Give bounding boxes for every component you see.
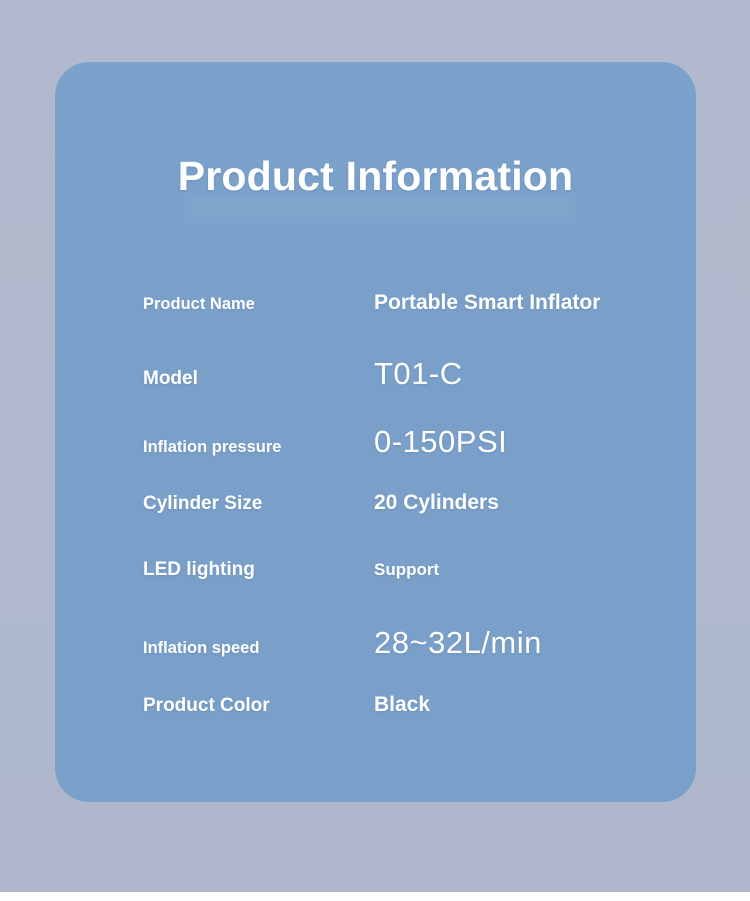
spec-value-inflation-pressure: 0-150PSI bbox=[374, 424, 507, 460]
product-info-page: Product Information Product Name Portabl… bbox=[0, 0, 750, 901]
spec-label-led-lighting: LED lighting bbox=[143, 559, 374, 581]
spec-row-inflation-pressure: Inflation pressure 0-150PSI bbox=[143, 424, 683, 460]
specification-list: Product Name Portable Smart Inflator Mod… bbox=[55, 62, 696, 802]
spec-row-cylinder-size: Cylinder Size 20 Cylinders bbox=[143, 491, 683, 515]
bottom-divider-strip bbox=[0, 892, 750, 901]
spec-row-model: Model T01-C bbox=[143, 356, 683, 392]
spec-label-product-name: Product Name bbox=[143, 295, 374, 314]
spec-row-inflation-speed: Inflation speed 28~32L/min bbox=[143, 625, 683, 661]
spec-value-product-name: Portable Smart Inflator bbox=[374, 291, 600, 315]
spec-label-model: Model bbox=[143, 368, 374, 390]
spec-label-cylinder-size: Cylinder Size bbox=[143, 493, 374, 515]
spec-row-product-name: Product Name Portable Smart Inflator bbox=[143, 291, 683, 315]
spec-value-model: T01-C bbox=[374, 356, 463, 392]
spec-value-led-lighting: Support bbox=[374, 560, 439, 580]
spec-label-inflation-speed: Inflation speed bbox=[143, 639, 374, 658]
spec-label-inflation-pressure: Inflation pressure bbox=[143, 438, 374, 457]
spec-label-product-color: Product Color bbox=[143, 695, 374, 717]
spec-value-product-color: Black bbox=[374, 693, 430, 717]
spec-value-inflation-speed: 28~32L/min bbox=[374, 625, 542, 661]
spec-value-cylinder-size: 20 Cylinders bbox=[374, 491, 499, 515]
product-information-card: Product Information Product Name Portabl… bbox=[55, 62, 696, 802]
spec-row-product-color: Product Color Black bbox=[143, 693, 683, 717]
spec-row-led-lighting: LED lighting Support bbox=[143, 559, 683, 581]
